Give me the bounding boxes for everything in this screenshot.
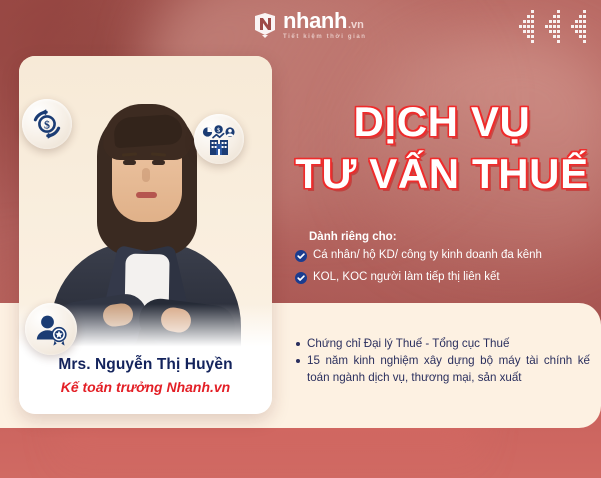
page-title: DỊCH VỤ TƯ VẤN THUẾ (292, 101, 592, 195)
money-cycle-icon: $ (22, 99, 72, 149)
poster-canvas: nhanh .vn Tiết kiệm thời gian (0, 0, 601, 478)
target-audience-block: Dành riêng cho: Cá nhân/ hộ KD/ công ty … (295, 231, 585, 292)
building-analytics-icon: $ (194, 114, 244, 164)
certified-person-icon (25, 303, 77, 355)
profile-name: Mrs. Nguyễn Thị Huyền (19, 356, 272, 374)
list-item: Chứng chỉ Đại lý Thuế - Tổng cục Thuế (294, 336, 590, 352)
svg-text:$: $ (44, 117, 50, 131)
credentials-list: Chứng chỉ Đại lý Thuế - Tổng cục Thuế 15… (294, 336, 590, 387)
brand-tld: .vn (348, 20, 364, 31)
nhanh-n-logo-icon (252, 12, 278, 39)
triple-left-chevron-dotted-icon (516, 9, 589, 45)
list-item: 15 năm kinh nghiệm xây dựng bộ máy tài c… (294, 353, 590, 386)
check-circle-icon (295, 249, 307, 267)
brand-tagline: Tiết kiệm thời gian (283, 34, 367, 40)
brand-name: nhanh (283, 10, 347, 32)
page-title-line-2: TƯ VẤN THUẾ (292, 153, 592, 195)
target-audience-heading: Dành riêng cho: (309, 231, 585, 243)
page-title-line-1: DỊCH VỤ (292, 101, 592, 143)
brand-logo-text: nhanh .vn Tiết kiệm thời gian (283, 10, 367, 40)
target-audience-item: Cá nhân/ hộ KD/ công ty kinh doanh đa kê… (295, 248, 585, 267)
target-audience-item-label: Cá nhân/ hộ KD/ công ty kinh doanh đa kê… (313, 248, 542, 263)
target-audience-item: KOL, KOC người làm tiếp thị liên kết (295, 270, 585, 289)
profile-role: Kế toán trưởng Nhanh.vn (19, 379, 272, 395)
profile-name-block: Mrs. Nguyễn Thị Huyền Kế toán trưởng Nha… (19, 356, 272, 395)
svg-text:$: $ (217, 127, 220, 134)
target-audience-item-label: KOL, KOC người làm tiếp thị liên kết (313, 270, 500, 285)
check-circle-icon (295, 271, 307, 289)
brand-logo[interactable]: nhanh .vn Tiết kiệm thời gian (252, 10, 367, 40)
